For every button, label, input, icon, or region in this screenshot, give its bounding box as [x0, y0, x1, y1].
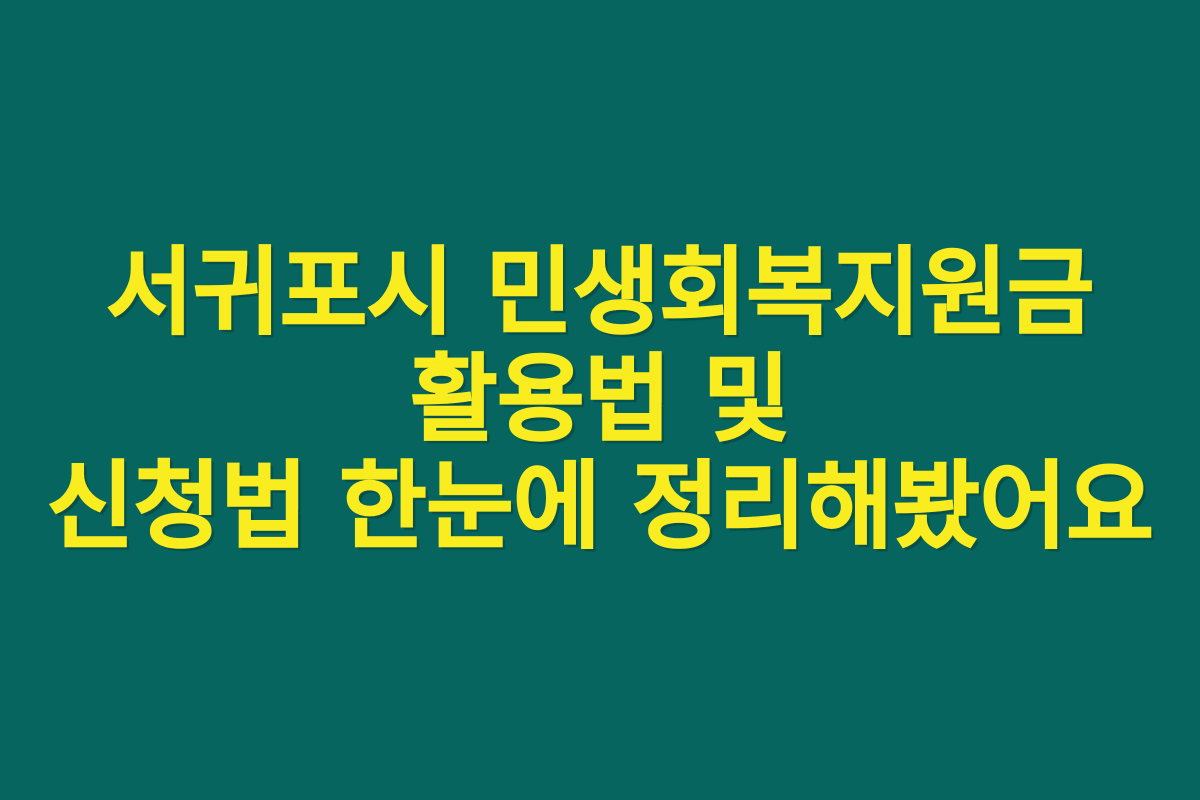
headline-line-3: 신청법 한눈에 정리해봤어요: [20, 454, 1180, 561]
headline: 서귀포시 민생회복지원금 활용법 및 신청법 한눈에 정리해봤어요: [20, 240, 1180, 561]
banner-card: 서귀포시 민생회복지원금 활용법 및 신청법 한눈에 정리해봤어요: [0, 0, 1200, 800]
headline-line-1: 서귀포시 민생회복지원금: [20, 240, 1180, 347]
headline-line-2: 활용법 및: [20, 347, 1180, 454]
